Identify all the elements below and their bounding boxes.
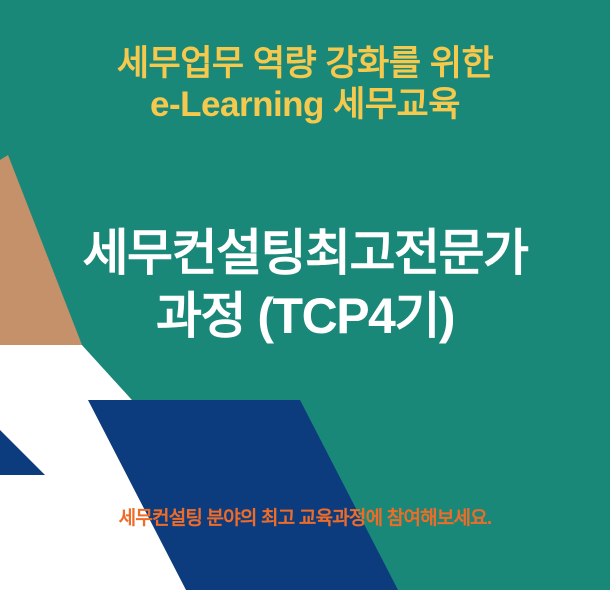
background-shapes (0, 0, 610, 590)
promo-banner: 세무업무 역량 강화를 위한 e-Learning 세무교육 세무컨설팅최고전문… (0, 0, 610, 590)
